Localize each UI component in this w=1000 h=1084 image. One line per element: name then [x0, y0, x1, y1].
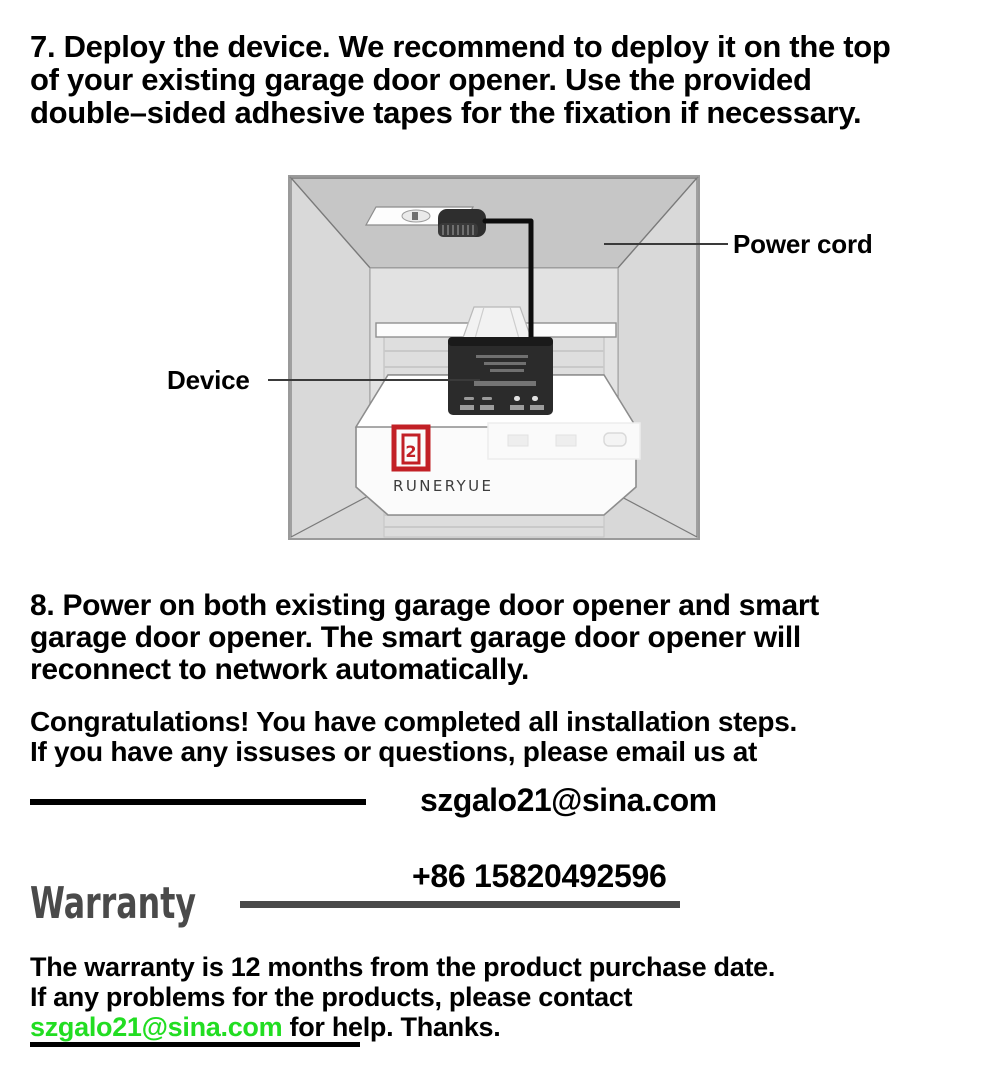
- warranty-line-2: If any problems for the products, please…: [30, 982, 980, 1012]
- step-7-line-1: 7. Deploy the device. We recommend to de…: [30, 30, 978, 63]
- warranty-contact-email: szgalo21@sina.com: [30, 1012, 282, 1042]
- step-8-line-1: 8. Power on both existing garage door op…: [30, 590, 960, 622]
- garage-scene-svg: 2 RUNERYUE: [288, 175, 700, 540]
- warranty-line-3: szgalo21@sina.com for help. Thanks.: [30, 1012, 980, 1042]
- power-adapter: [438, 209, 486, 237]
- garage-installation-diagram: 2 RUNERYUE: [288, 175, 700, 540]
- step-8-line-3: reconnect to network automatically.: [30, 654, 960, 686]
- step-7-line-3: double–sided adhesive tapes for the fixa…: [30, 96, 978, 129]
- manual-page: 7. Deploy the device. We recommend to de…: [0, 0, 1000, 1084]
- email-divider-rule: [30, 799, 366, 805]
- device-leader-line: [268, 379, 480, 381]
- step-8-line-2: garage door opener. The smart garage doo…: [30, 622, 960, 654]
- warranty-heading: Warranty: [30, 878, 196, 929]
- step-7-line-2: of your existing garage door opener. Use…: [30, 63, 978, 96]
- power-cord-leader-line: [604, 243, 728, 245]
- warranty-divider-rule: [240, 901, 680, 908]
- device-label: Device: [167, 365, 250, 396]
- step-8-paragraph: 8. Power on both existing garage door op…: [30, 590, 960, 686]
- warranty-email-underline: [30, 1042, 360, 1047]
- warranty-line-3-rest: for help. Thanks.: [282, 1012, 500, 1042]
- contact-phone: +86 15820492596: [412, 858, 666, 895]
- brand-wordmark: RUNERYUE: [393, 477, 493, 495]
- opener-control-strip: [488, 423, 640, 459]
- smart-device-unit: [448, 337, 553, 415]
- svg-text:2: 2: [405, 442, 416, 461]
- congratulations-line-1: Congratulations! You have completed all …: [30, 707, 970, 737]
- warranty-paragraph: The warranty is 12 months from the produ…: [30, 952, 980, 1043]
- step-7-paragraph: 7. Deploy the device. We recommend to de…: [30, 30, 978, 129]
- power-cord-label: Power cord: [733, 229, 873, 260]
- congratulations-paragraph: Congratulations! You have completed all …: [30, 707, 970, 767]
- warranty-line-1: The warranty is 12 months from the produ…: [30, 952, 980, 982]
- contact-email: szgalo21@sina.com: [420, 782, 717, 819]
- congratulations-line-2: If you have any issuses or questions, pl…: [30, 737, 970, 767]
